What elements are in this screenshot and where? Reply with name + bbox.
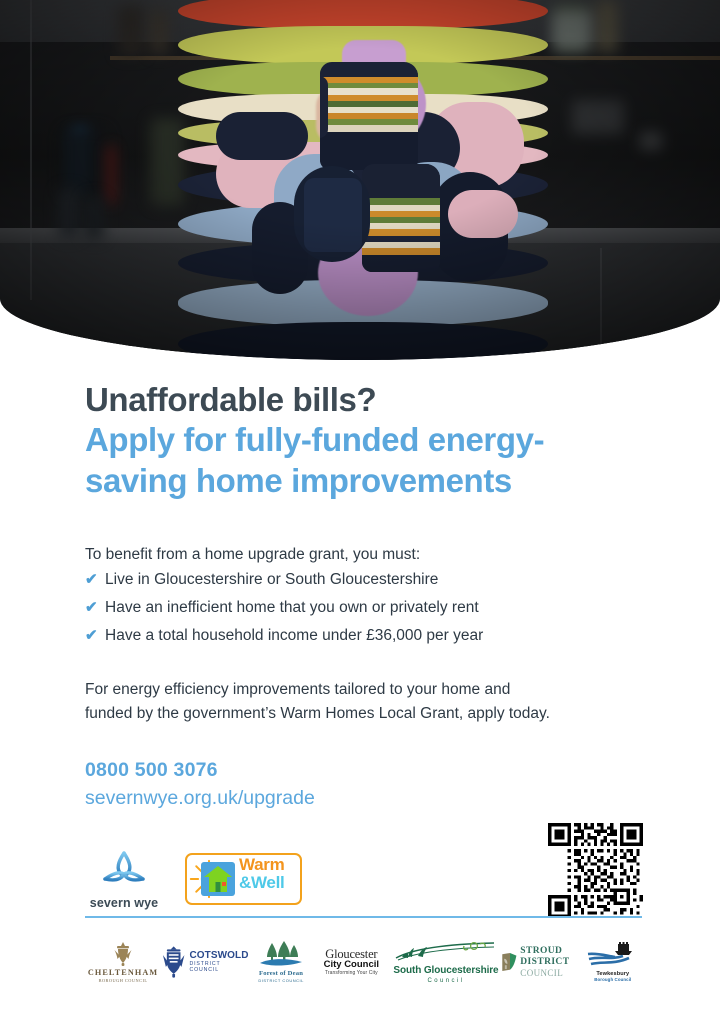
council-sub: Borough Council	[581, 978, 645, 983]
page-title: Unaffordable bills? Apply for fully-fund…	[85, 380, 655, 501]
council-sub: DISTRICT COUNCIL	[251, 979, 311, 983]
headline-cta-line1: Apply for fully-funded energy-	[85, 420, 655, 460]
cheltenham-crest-icon	[112, 941, 134, 967]
severn-wye-wordmark: severn wye	[85, 896, 163, 910]
list-item: ✔ Have an inefficient home that you own …	[85, 598, 630, 619]
council-sub: BOROUGH COUNCIL	[85, 979, 161, 984]
severn-wye-trefoil-icon	[101, 849, 147, 889]
check-icon: ✔	[85, 570, 105, 590]
qr-code-matrix	[548, 823, 643, 918]
website-url[interactable]: severnwye.org.uk/upgrade	[85, 785, 505, 813]
house-icon	[203, 864, 233, 894]
council-name: Forest of Dean	[251, 971, 311, 978]
photo-vignette	[0, 0, 720, 360]
council-sub: DISTRICT COUNCIL	[189, 962, 250, 973]
headline-cta-line2: saving home improvements	[85, 461, 655, 501]
warm-and-well-wordmark: Warm &Well	[239, 856, 299, 892]
qr-code-icon[interactable]	[548, 823, 643, 918]
council-name: CHELTENHAM	[85, 969, 161, 978]
eligibility-list: ✔ Live in Gloucestershire or South Glouc…	[85, 570, 630, 654]
council-name: South Gloucestershire	[391, 966, 500, 977]
hero-photo	[0, 0, 720, 360]
council-logo-south-gloucestershire[interactable]: South Gloucestershire Council	[391, 940, 500, 985]
well-word: &Well	[239, 874, 299, 892]
headline-question: Unaffordable bills?	[85, 380, 655, 420]
brand-logos: severn wye Warm &Well	[85, 845, 302, 913]
warm-and-well-logo[interactable]: Warm &Well	[185, 853, 302, 905]
council-strapline: Transforming Your City	[311, 971, 391, 976]
cotswold-crest-icon	[161, 945, 186, 979]
phone-number[interactable]: 0800 500 3076	[85, 757, 505, 785]
council-logo-tewkesbury[interactable]: Tewkesbury Borough Council	[581, 942, 645, 982]
tewkesbury-river-icon	[585, 942, 641, 970]
list-item-label: Live in Gloucestershire or South Glouces…	[105, 570, 438, 591]
list-item: ✔ Live in Gloucestershire or South Glouc…	[85, 570, 630, 591]
stroud-wordmark: STROUD DISTRICT COUNCIL	[520, 946, 580, 977]
council-logo-forest-of-dean[interactable]: Forest of Dean DISTRICT COUNCIL	[251, 941, 311, 983]
council-name: COTSWOLD	[189, 951, 250, 962]
list-item: ✔ Have a total household income under £3…	[85, 626, 630, 647]
check-icon: ✔	[85, 598, 105, 618]
south-gloucestershire-hills-icon	[394, 940, 498, 964]
hero-banner	[0, 0, 720, 360]
warm-word: Warm	[239, 856, 299, 874]
forest-of-dean-trees-icon	[258, 941, 304, 969]
list-item-label: Have an inefficient home that you own or…	[105, 598, 479, 619]
council-logo-cheltenham[interactable]: CHELTENHAM BOROUGH COUNCIL	[85, 941, 161, 983]
council-name: STROUD DISTRICT	[520, 946, 580, 967]
council-logo-cotswold[interactable]: COTSWOLD DISTRICT COUNCIL	[161, 945, 251, 979]
grant-description: For energy efficiency improvements tailo…	[85, 678, 555, 726]
hero-image-clip	[0, 0, 720, 360]
contact-block: 0800 500 3076 severnwye.org.uk/upgrade	[85, 757, 505, 812]
council-name-secondary: City Council	[311, 960, 391, 970]
council-sub: Council	[391, 978, 500, 984]
cotswold-wordmark: COTSWOLD DISTRICT COUNCIL	[189, 951, 250, 973]
list-item-label: Have a total household income under £36,…	[105, 626, 483, 647]
council-sub: COUNCIL	[520, 968, 580, 978]
severn-wye-logo[interactable]: severn wye	[85, 849, 163, 910]
section-divider	[85, 916, 642, 918]
council-logo-gloucester-city[interactable]: Gloucester City Council Transforming You…	[311, 948, 391, 977]
stroud-district-icon	[501, 947, 518, 977]
check-icon: ✔	[85, 626, 105, 646]
partner-council-logos: CHELTENHAM BOROUGH COUNCIL COTSWOLD DIST…	[85, 932, 645, 992]
eligibility-intro: To benefit from a home upgrade grant, yo…	[85, 543, 625, 566]
council-logo-stroud[interactable]: STROUD DISTRICT COUNCIL	[501, 946, 581, 977]
